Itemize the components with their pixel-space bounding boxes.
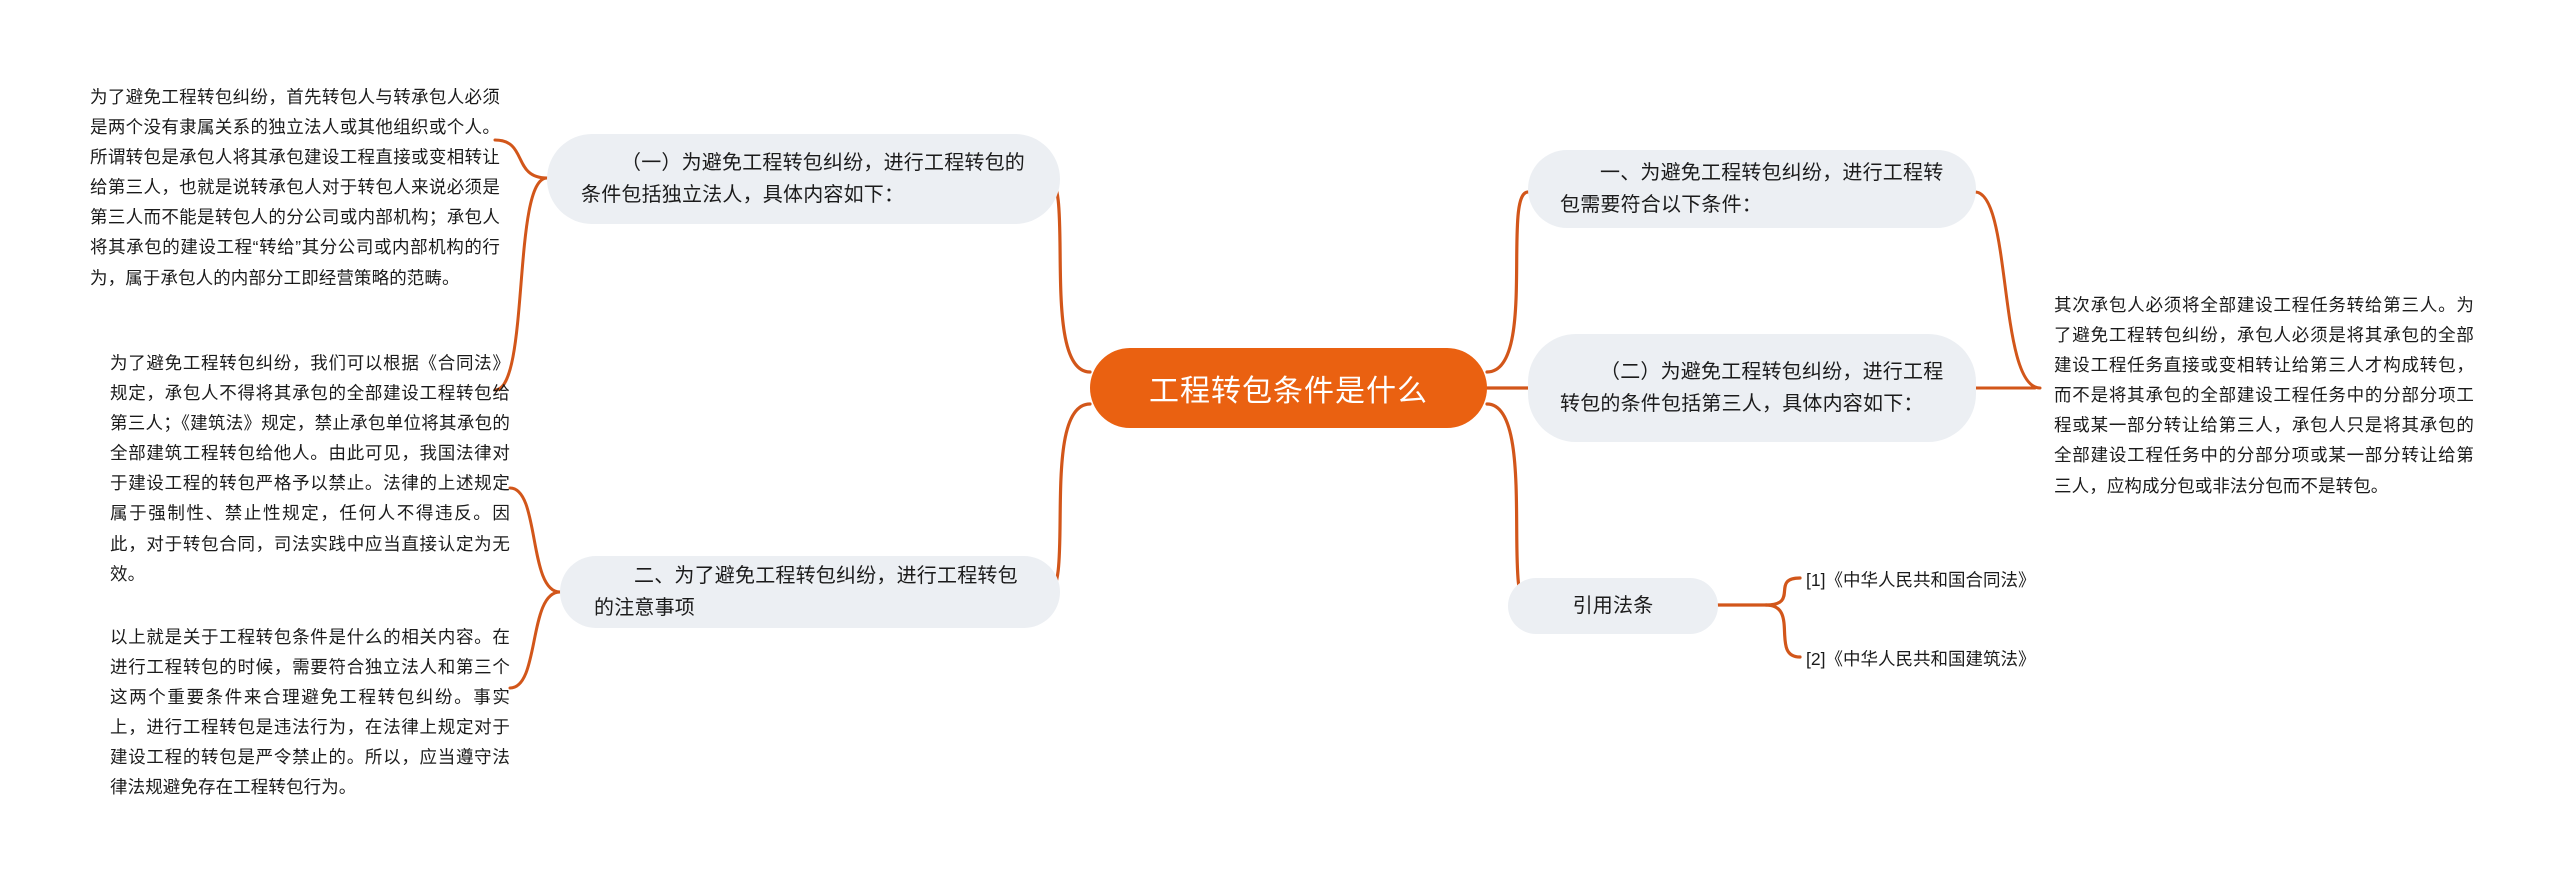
node-right-top-label: 一、为避免工程转包纠纷，进行工程转包需要符合以下条件： bbox=[1560, 157, 1944, 222]
paragraph-left-1: 为了避免工程转包纠纷，首先转包人与转承包人必须是两个没有隶属关系的独立法人或其他… bbox=[90, 82, 500, 293]
node-left-bottom-label: 二、为了避免工程转包纠纷，进行工程转包的注意事项 bbox=[594, 560, 1026, 625]
node-left-top-label: （一）为避免工程转包纠纷，进行工程转包的条件包括独立法人，具体内容如下： bbox=[581, 147, 1026, 212]
node-right-middle[interactable]: （二）为避免工程转包纠纷，进行工程转包的条件包括第三人，具体内容如下： bbox=[1528, 334, 1976, 442]
citation-leaf-2[interactable]: [2]《中华人民共和国建筑法》 bbox=[1806, 645, 2035, 673]
node-right-middle-label: （二）为避免工程转包纠纷，进行工程转包的条件包括第三人，具体内容如下： bbox=[1560, 356, 1944, 421]
citation-leaf-1[interactable]: [1]《中华人民共和国合同法》 bbox=[1806, 566, 2035, 594]
center-node[interactable]: 工程转包条件是什么 bbox=[1090, 348, 1487, 428]
node-left-top[interactable]: （一）为避免工程转包纠纷，进行工程转包的条件包括独立法人，具体内容如下： bbox=[547, 134, 1060, 224]
node-right-top[interactable]: 一、为避免工程转包纠纷，进行工程转包需要符合以下条件： bbox=[1528, 150, 1976, 228]
node-left-bottom[interactable]: 二、为了避免工程转包纠纷，进行工程转包的注意事项 bbox=[560, 556, 1060, 628]
paragraph-right-1: 其次承包人必须将全部建设工程任务转给第三人。为了避免工程转包纠纷，承包人必须是将… bbox=[2054, 290, 2474, 501]
paragraph-left-3: 以上就是关于工程转包条件是什么的相关内容。在进行工程转包的时候，需要符合独立法人… bbox=[110, 622, 510, 803]
paragraph-left-2: 为了避免工程转包纠纷，我们可以根据《合同法》规定，承包人不得将其承包的全部建设工… bbox=[110, 348, 510, 589]
node-citations-label: 引用法条 bbox=[1540, 590, 1686, 622]
node-citations[interactable]: 引用法条 bbox=[1508, 578, 1718, 634]
mindmap-canvas: 工程转包条件是什么 （一）为避免工程转包纠纷，进行工程转包的条件包括独立法人，具… bbox=[0, 0, 2560, 893]
center-node-label: 工程转包条件是什么 bbox=[1149, 366, 1428, 410]
